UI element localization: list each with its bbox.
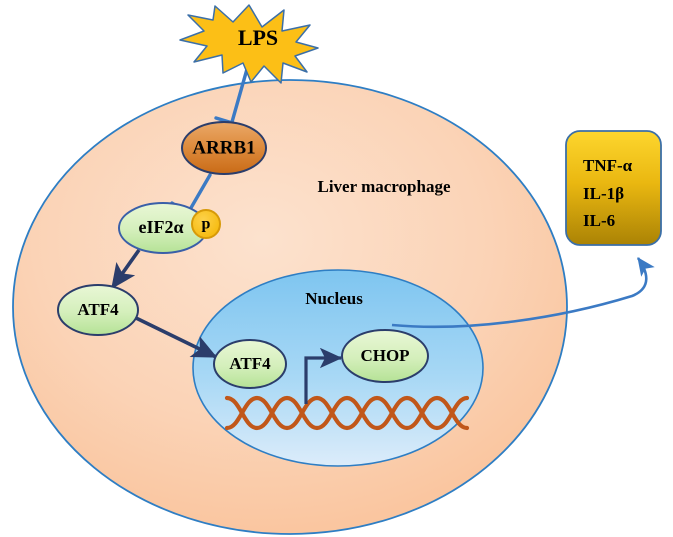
cytokine-line-3: IL-6	[583, 211, 615, 230]
nucleus-label: Nucleus	[305, 289, 363, 308]
cytokine-line-2: IL-1β	[583, 184, 624, 203]
cytokine-box[interactable]: TNF-α IL-1β IL-6	[566, 131, 661, 245]
chop-label: CHOP	[360, 346, 409, 365]
atf4-cytoplasm-node[interactable]: ATF4	[58, 285, 138, 335]
phospho-node[interactable]: p	[192, 210, 220, 238]
arrb1-label: ARRB1	[192, 137, 255, 158]
lps-label: LPS	[238, 25, 278, 50]
phospho-label: p	[202, 216, 211, 233]
eif2a-label: eIF2α	[138, 217, 183, 237]
pathway-diagram: Liver macrophage Nucleus	[0, 0, 673, 537]
pathway-canvas: Liver macrophage Nucleus	[0, 0, 673, 537]
atf4-nucleus-node[interactable]: ATF4	[214, 340, 286, 388]
lps-node[interactable]: LPS	[180, 5, 318, 83]
chop-node[interactable]: CHOP	[342, 330, 428, 382]
cell-label: Liver macrophage	[318, 177, 451, 196]
atf4-cytoplasm-label: ATF4	[77, 300, 119, 319]
atf4-nucleus-label: ATF4	[229, 354, 271, 373]
cytokine-line-1: TNF-α	[583, 156, 633, 175]
arrb1-node[interactable]: ARRB1	[182, 122, 266, 174]
